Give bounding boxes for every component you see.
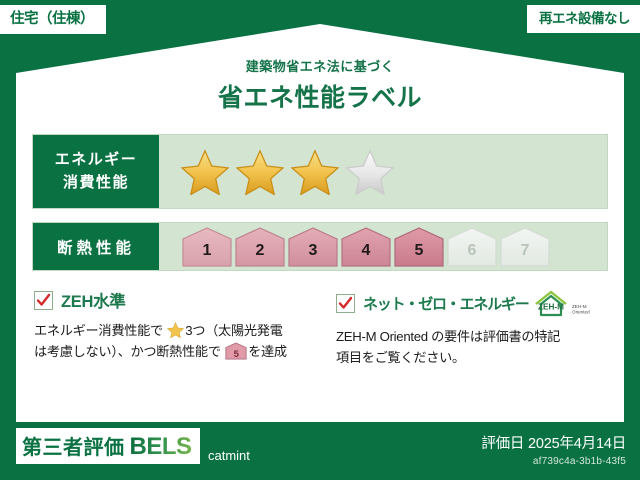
title-subtitle: 建築物省エネ法に基づく [0,56,640,75]
evaluation-id: af739c4a-3b1b-43f5 [481,456,626,467]
third-party-eval-label: 第三者評価 [22,431,125,460]
check-icon [338,296,353,311]
energy-performance-row: エネルギー 消費性能 [32,134,608,209]
house-badge-icon: 4 [340,226,392,268]
zeh-desc-part4: を達成 [248,344,287,359]
net-zero-desc-line2: 項目をご覧ください。 [336,347,616,368]
energy-label-line2: 消費性能 [63,172,129,195]
net-zero-energy-section: ネット・ゼロ・エネルギー ZEH-M ZEH-M Oriented ZEH-M … [336,288,616,369]
zeh-m-logo-icon: ZEH-M ZEH-M Oriented [532,288,594,318]
evaluation-info: 評価日 2025年4月14日 af739c4a-3b1b-43f5 [481,432,626,467]
inline-badge-value: 5 [225,347,247,362]
house-badge-icon-inactive: 7 [499,226,551,268]
insulation-level-value: 4 [340,242,392,260]
page-title: 省エネ性能ラベル [0,78,640,114]
label-title-block: 建築物省エネ法に基づく 省エネ性能ラベル [0,56,640,114]
footer-bar: 第三者評価 BELS catmint 評価日 2025年4月14日 af739c… [0,422,640,480]
insulation-performance-row: 断熱性能 1 [32,222,608,271]
zeh-standard-section: ZEH水準 エネルギー消費性能で 3つ（太陽光発電 は考慮しない）、かつ断熱性能… [34,288,330,363]
insulation-level-value: 5 [393,242,445,260]
zeh-desc-part1: エネルギー消費性能で [34,323,163,338]
zeh-standard-description: エネルギー消費性能で 3つ（太陽光発電 は考慮しない）、かつ断熱性能で 5 を達… [34,320,330,363]
star-icon [291,149,339,195]
house-badge-icon: 3 [287,226,339,268]
house-badge-icon-inline: 5 [225,342,247,360]
house-badge-icon: 2 [234,226,286,268]
insulation-level-value: 7 [499,242,551,260]
owner-name: catmint [208,448,250,463]
building-type-tag: 住宅（住棟） [0,5,106,34]
bels-certification-tag: 第三者評価 BELS [16,428,200,464]
star-icon-empty [346,149,394,195]
insulation-level-value: 1 [181,242,233,260]
house-badge-icon-inactive: 6 [446,226,498,268]
insulation-badges-container: 1 2 [159,223,607,270]
net-zero-title: ネット・ゼロ・エネルギー [363,293,529,314]
check-icon [36,293,51,308]
svg-text:ZEH-M: ZEH-M [538,303,564,312]
insulation-level-value: 3 [287,242,339,260]
star-icon [236,149,284,195]
bels-logo-text: BELS [130,433,192,461]
zeh-standard-checkbox[interactable] [34,291,53,310]
insulation-performance-label: 断熱性能 [33,223,159,270]
zeh-desc-part3: は考慮しない）、かつ断熱性能で [34,344,221,359]
energy-label-line1: エネルギー [55,149,138,172]
net-zero-checkbox[interactable] [336,294,355,313]
insulation-level-value: 6 [446,242,498,260]
energy-performance-label: 住宅（住棟） 再エネ設備なし 建築物省エネ法に基づく 省エネ性能ラベル エネルギ… [0,0,640,480]
insulation-level-value: 2 [234,242,286,260]
energy-stars-container [159,135,607,208]
renewable-energy-tag: 再エネ設備なし [527,5,640,33]
main-content-panel: エネルギー 消費性能 [16,112,624,422]
zeh-standard-heading-row: ZEH水準 [34,288,330,312]
star-icon [167,322,184,338]
house-badge-icon-achieved: 5 [393,226,445,268]
svg-text:ZEH-M: ZEH-M [572,304,587,309]
zeh-desc-part2: 3つ（太陽光発電 [185,323,282,338]
evaluation-date: 評価日 2025年4月14日 [481,432,626,453]
zeh-standard-title: ZEH水準 [61,288,126,312]
net-zero-desc-line1: ZEH-M Oriented の要件は評価書の特記 [336,326,616,347]
svg-text:Oriented: Oriented [572,310,590,315]
net-zero-description: ZEH-M Oriented の要件は評価書の特記 項目をご覧ください。 [336,326,616,369]
net-zero-heading-row: ネット・ゼロ・エネルギー ZEH-M ZEH-M Oriented [336,288,616,318]
house-badge-icon: 1 [181,226,233,268]
star-icon [181,149,229,195]
energy-performance-label: エネルギー 消費性能 [33,135,159,208]
